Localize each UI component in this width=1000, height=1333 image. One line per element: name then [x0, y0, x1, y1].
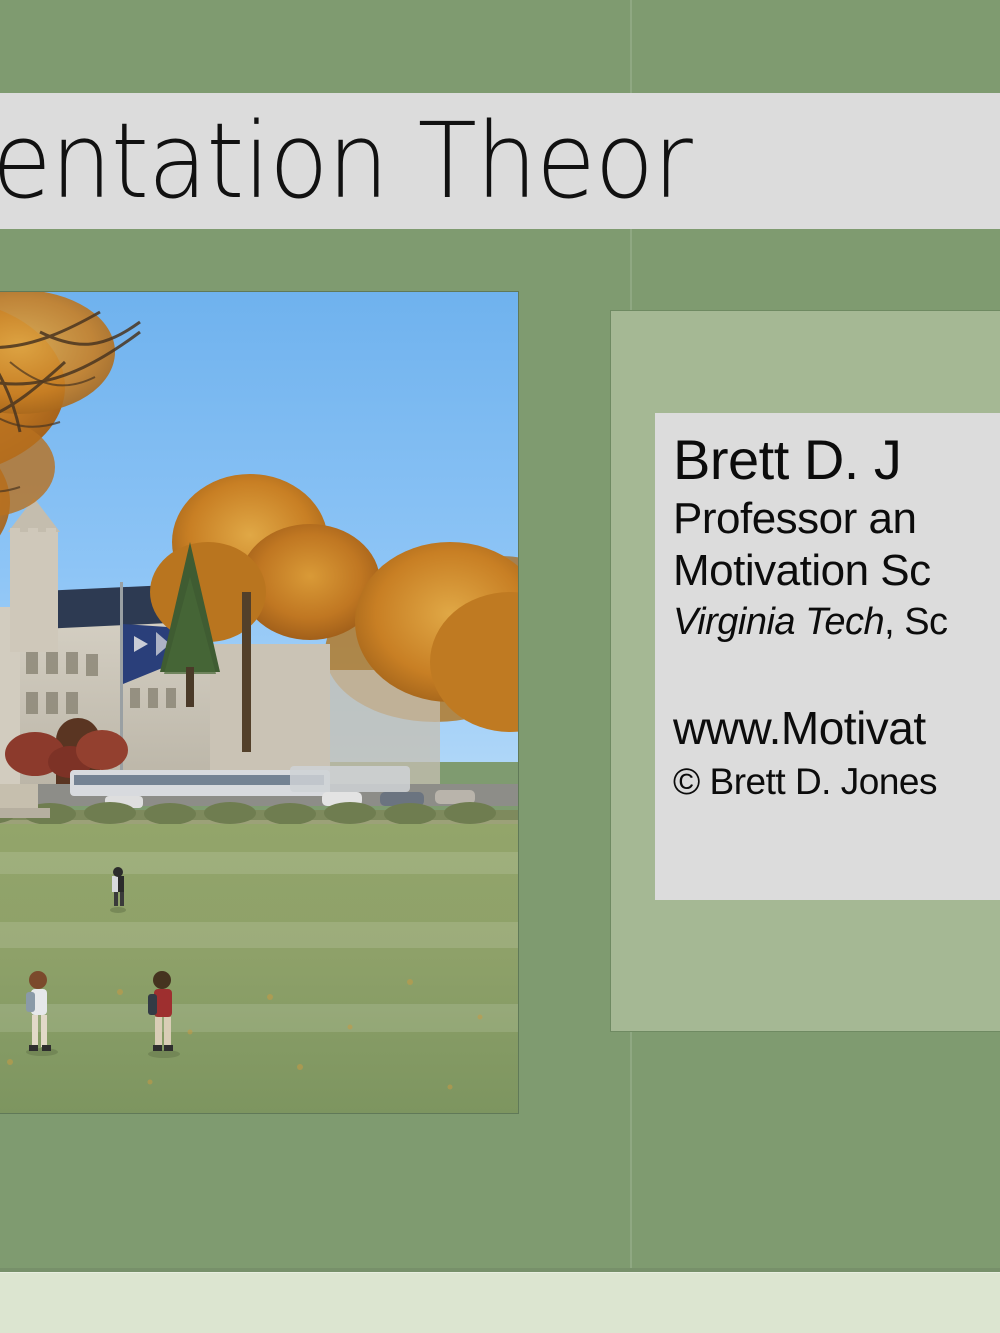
author-affiliation: Virginia Tech, Sc — [673, 599, 1000, 645]
author-role-line-2: Motivation Sc — [673, 545, 1000, 597]
author-name: Brett D. J — [673, 427, 1000, 493]
bottom-band — [0, 1272, 1000, 1333]
author-website-url[interactable]: www.Motivat — [673, 701, 1000, 755]
page-title: al Orientation Theor — [0, 109, 692, 213]
photo-artwork — [0, 292, 518, 1113]
author-role-line-1: Professor an — [673, 493, 1000, 545]
affiliation-department: , Sc — [884, 601, 947, 643]
copyright-notice: © Brett D. Jones — [673, 760, 1000, 804]
slide-title-bar: al Orientation Theor — [0, 93, 1000, 229]
author-credits-box: Brett D. J Professor an Motivation Sc Vi… — [655, 413, 1000, 900]
campus-quad-autumn-photo — [0, 292, 518, 1113]
slide-canvas: al Orientation Theor — [0, 0, 1000, 1333]
affiliation-institution: Virginia Tech — [673, 601, 884, 643]
